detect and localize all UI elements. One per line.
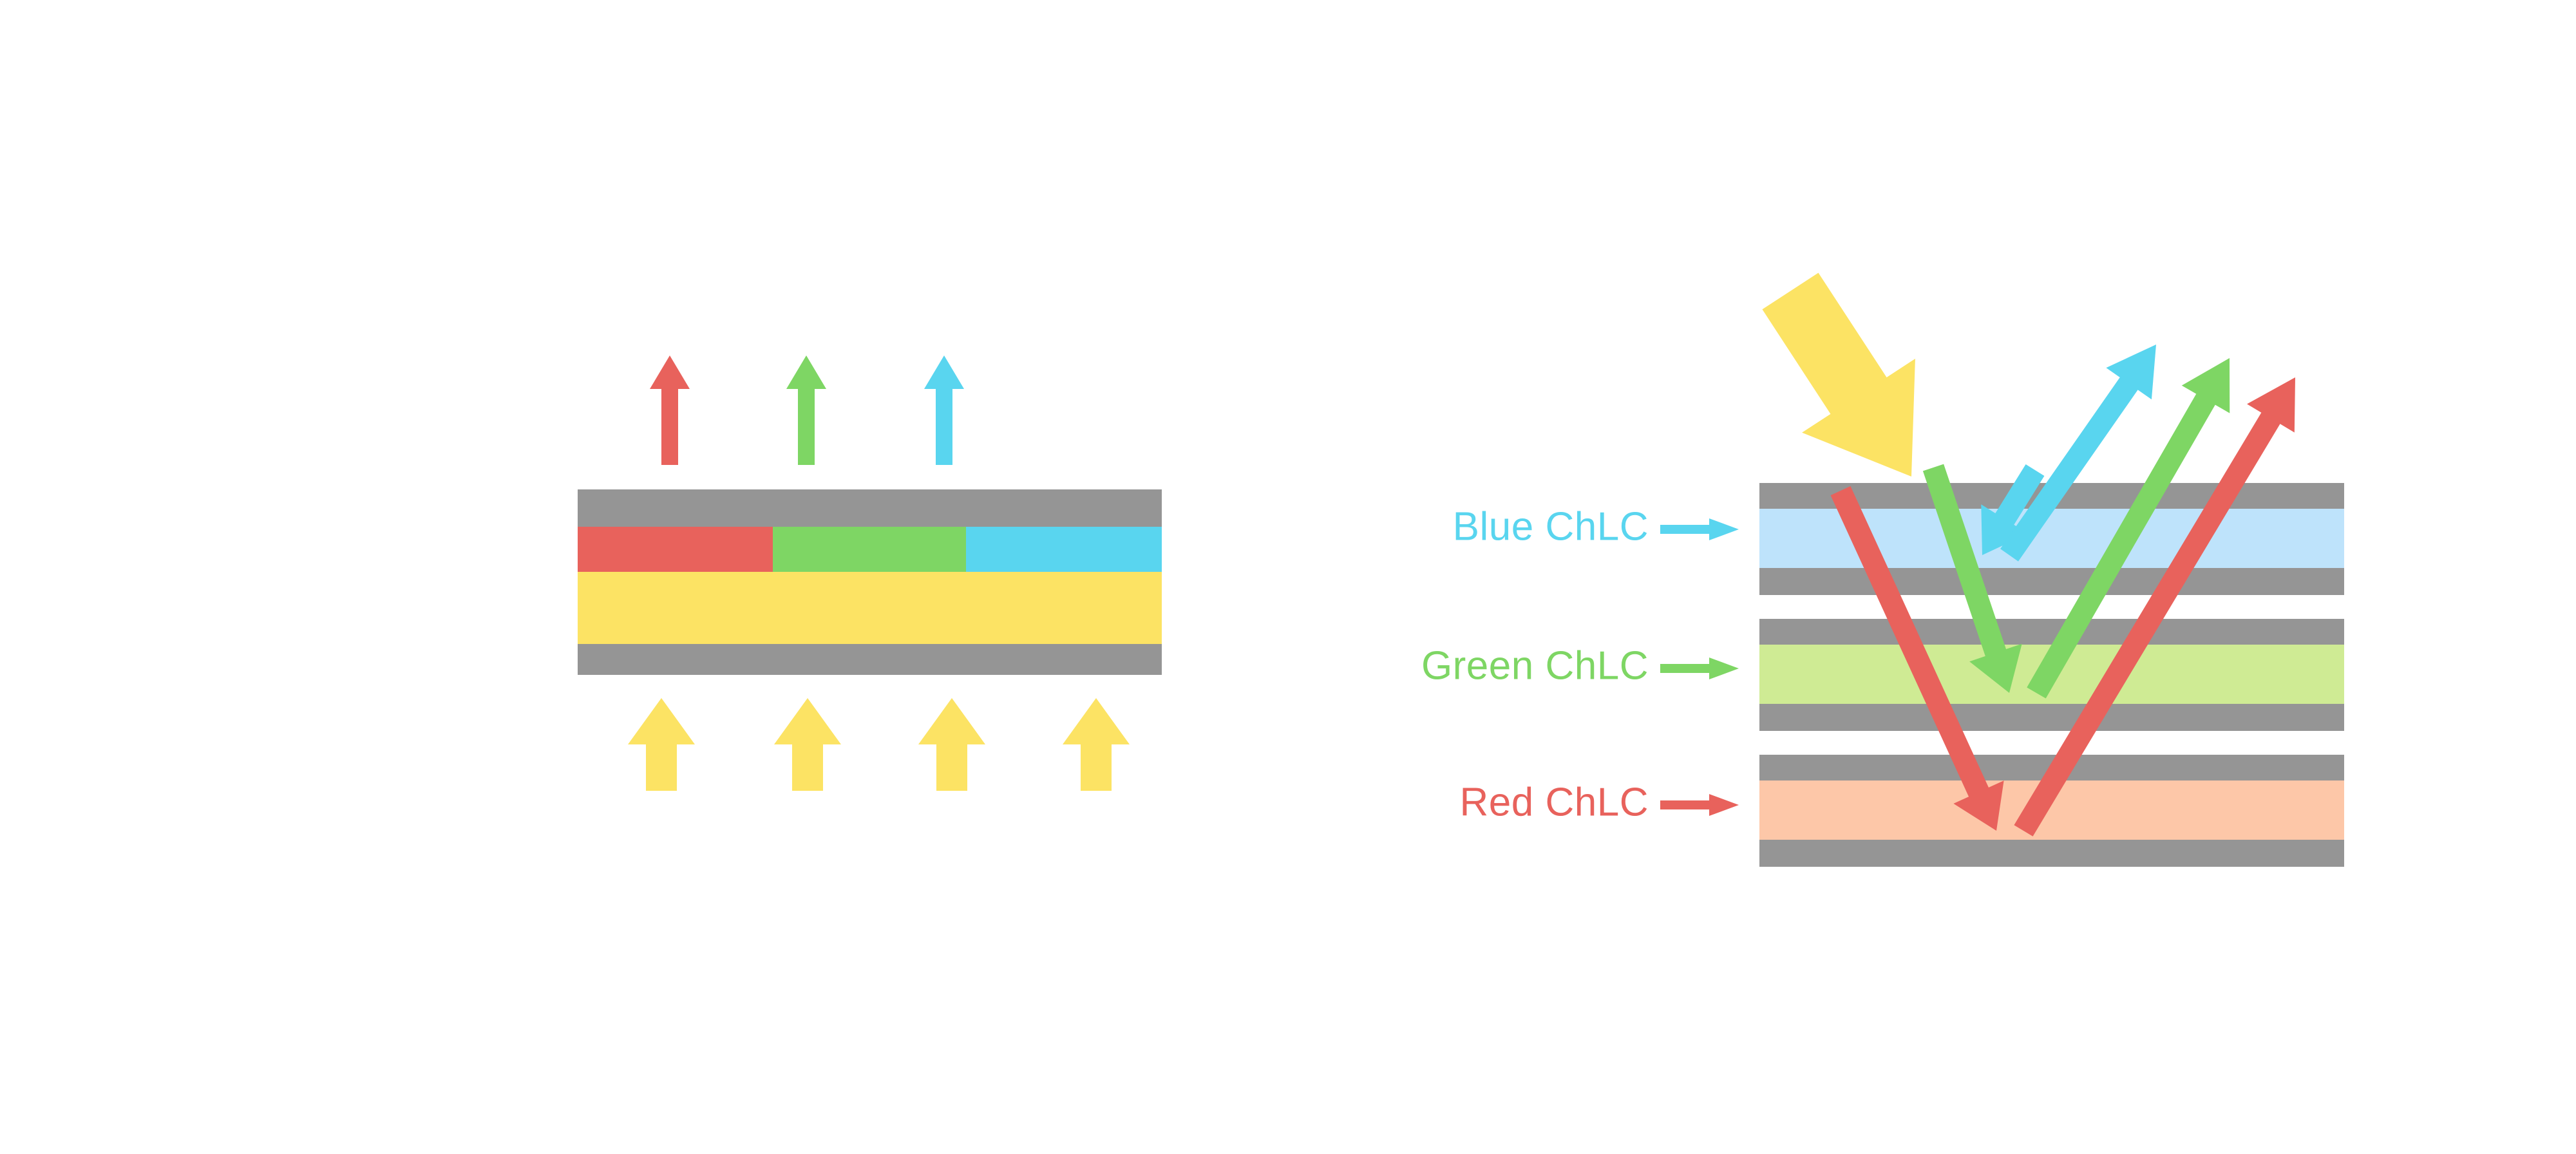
green-chlc-cell-top-electrode — [1759, 619, 2344, 645]
blue-chlc-cell-label-group: Blue ChLC — [1453, 504, 1739, 549]
green-chlc-cell-bottom-electrode — [1759, 704, 2344, 731]
green-chlc-cell-label: Green ChLC — [1421, 643, 1649, 688]
red-chlc-cell-label-group: Red ChLC — [1460, 780, 1739, 824]
red-chlc-cell-bottom-electrode — [1759, 840, 2344, 867]
red-chlc-cell-label-arrow — [1660, 794, 1739, 816]
blue-chlc-cell-label: Blue ChLC — [1453, 504, 1649, 549]
red-chlc-cell-label: Red ChLC — [1460, 780, 1649, 824]
incident-white-light-arrow — [1762, 273, 1915, 477]
blue-chlc-cell-label-arrow — [1660, 518, 1739, 540]
green-chlc-cell-label-group: Green ChLC — [1421, 643, 1739, 688]
right-panel: Blue ChLCGreen ChLCRed ChLC — [0, 0, 2576, 1154]
blue-chlc-cell-bottom-electrode — [1759, 568, 2344, 595]
green-chlc-cell-label-arrow — [1660, 657, 1739, 679]
diagram-canvas: Blue ChLCGreen ChLCRed ChLC — [0, 0, 2576, 1154]
